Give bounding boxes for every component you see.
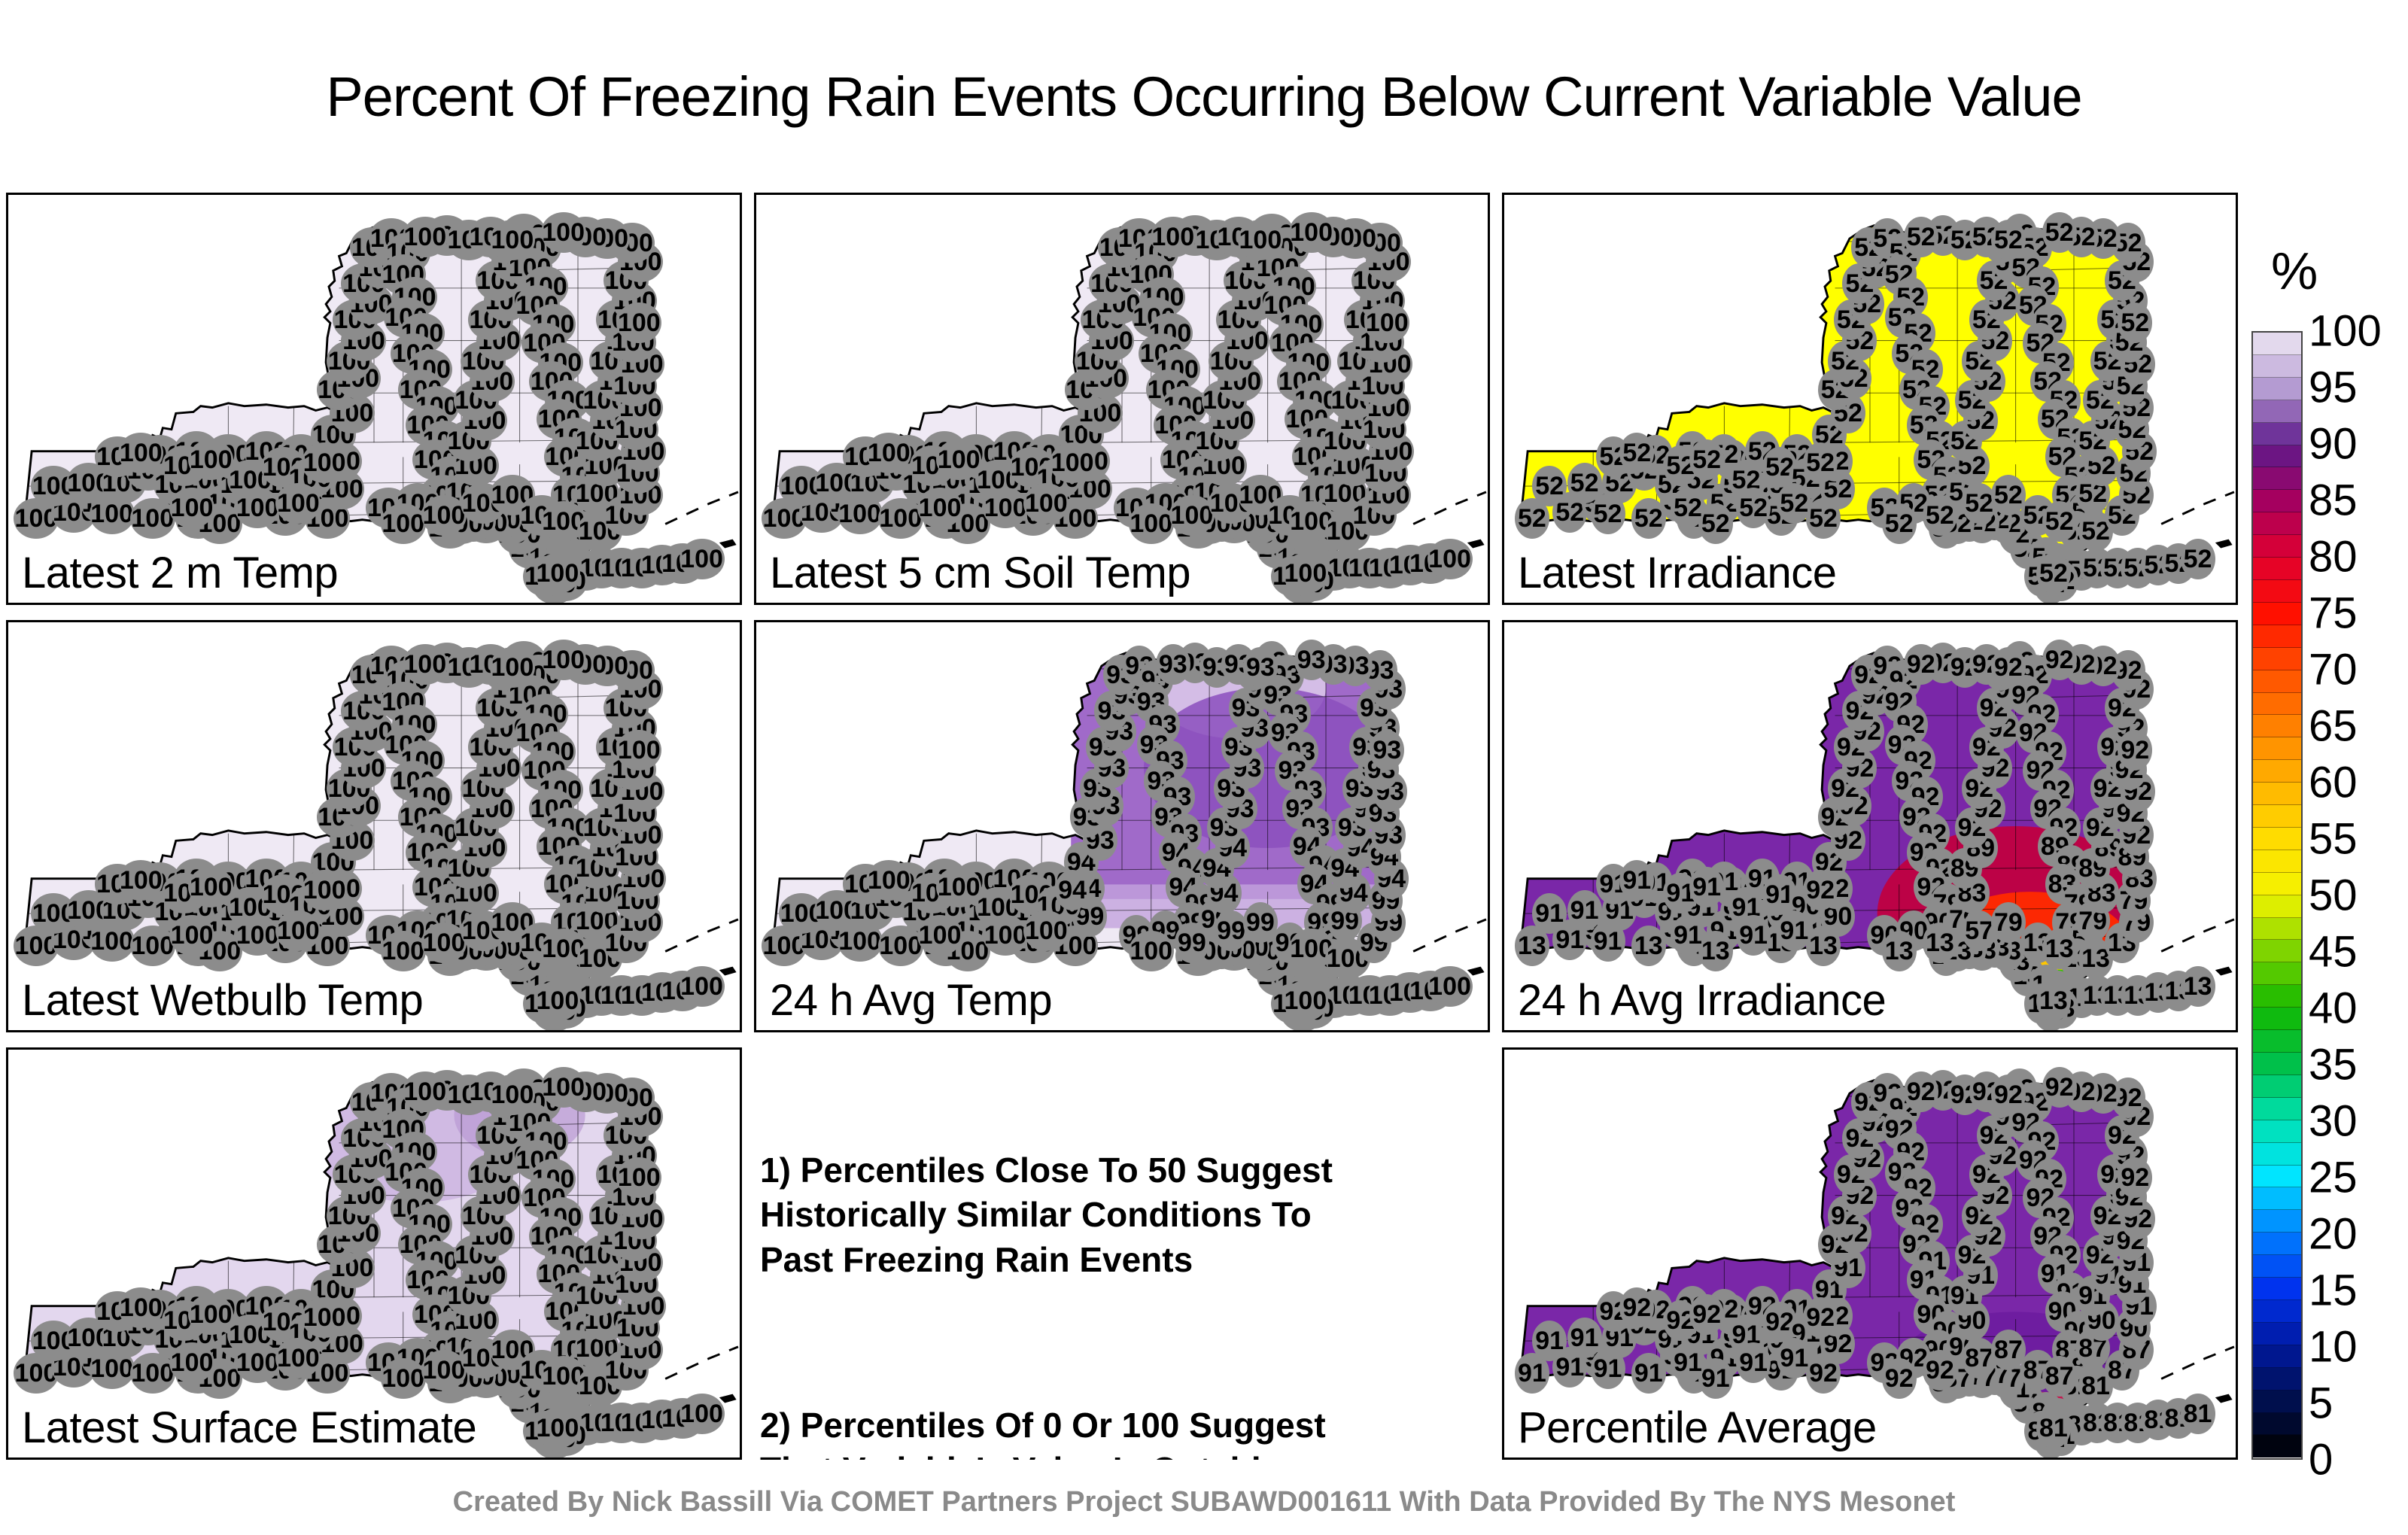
station-marker: 52 (1777, 483, 1811, 524)
note-1: 1) Percentiles Close To 50 Suggest Histo… (760, 1148, 1482, 1283)
station-marker: 91 (1777, 1338, 1811, 1378)
station-marker: 52 (1803, 442, 1838, 483)
colorbar-tick-25: 25 (2309, 1153, 2408, 1203)
station-marker: 87 (2042, 1356, 2077, 1397)
colorbar-tick-5: 5 (2309, 1378, 2408, 1429)
station-marker: 52 (1689, 439, 1724, 480)
station-marker: 100 (302, 1297, 347, 1338)
station-marker: 93 (1243, 647, 1278, 688)
station-marker: 100 (983, 915, 1028, 956)
station-marker: 100 (118, 860, 163, 901)
station-marker: 100 (936, 867, 981, 907)
station-marker: 100 (878, 498, 923, 539)
station-marker: 100 (118, 1287, 163, 1328)
station-marker: 92 (1991, 647, 2026, 688)
station-marker: 100 (381, 1358, 426, 1399)
station-marker: 100 (1427, 539, 1473, 579)
map-latest-surface-estimate: 1001001001001001001001001001001001001001… (8, 1050, 740, 1457)
station-marker: 100 (130, 926, 175, 966)
station-marker: 52 (1736, 488, 1771, 528)
station-marker: 100 (541, 1067, 586, 1108)
colorbar-tick-70: 70 (2309, 645, 2408, 695)
station-marker: 100 (866, 433, 911, 473)
station-marker: 93 (1370, 730, 1404, 771)
station-marker: 100 (490, 647, 535, 688)
colorbar-tick-35: 35 (2309, 1040, 2408, 1090)
station-marker: 100 (1283, 553, 1328, 594)
panel-24h-avg-irradiance[interactable]: 1391919191919191919113919191139191919113… (1502, 620, 2238, 1032)
station-marker: 91 (1736, 1342, 1771, 1383)
station-marker: 92 (1689, 1294, 1724, 1335)
station-marker: 81 (2036, 1408, 2071, 1448)
station-marker: 92 (1619, 1287, 1654, 1328)
station-marker: 100 (403, 644, 448, 685)
station-marker: 100 (1283, 980, 1328, 1021)
panel-percentile-average[interactable]: 9191919191919292929191919191919192929191… (1502, 1047, 2238, 1460)
map-24h-avg-irradiance: 1391919191919191919113919191139191919113… (1504, 622, 2236, 1030)
station-marker: 81 (2181, 1394, 2215, 1434)
panel-label-24h-avg-irradiance: 24 h Avg Irradiance (1518, 975, 1886, 1026)
station-marker: 13 (1631, 926, 1666, 966)
station-marker: 100 (169, 1342, 214, 1383)
station-marker: 92 (1991, 1074, 2026, 1115)
panel-notes: 1) Percentiles Close To 50 Suggest Histo… (754, 1047, 1490, 1460)
station-marker: 52 (1619, 433, 1654, 473)
colorbar-unit-label: % (2271, 241, 2318, 301)
station-marker: 91 (1619, 860, 1654, 901)
station-marker: 91 (1591, 921, 1625, 962)
colorbar-tick-60: 60 (2309, 758, 2408, 808)
panel-label-latest-surface-estimate: Latest Surface Estimate (22, 1403, 476, 1453)
panel-latest-surface-estimate[interactable]: 1001001001001001001001001001001001001001… (6, 1047, 742, 1460)
colorbar-tick-90: 90 (2309, 419, 2408, 470)
station-marker: 91 (1591, 1348, 1625, 1389)
panel-latest-wetbulb-temp[interactable]: 1001001001001001001001001001001001001001… (6, 620, 742, 1032)
station-marker: 100 (302, 870, 347, 910)
station-marker: 100 (118, 433, 163, 473)
station-marker: 91 (1532, 893, 1567, 934)
station-marker: 91 (1671, 1342, 1705, 1383)
station-marker: 100 (1238, 220, 1283, 260)
station-marker: 100 (1129, 931, 1174, 971)
colorbar-tick-40: 40 (2309, 983, 2408, 1034)
colorbar-tick-55: 55 (2309, 814, 2408, 865)
colorbar-tick-30: 30 (2309, 1096, 2408, 1147)
station-marker: 100 (235, 488, 280, 528)
station-marker: 100 (680, 539, 725, 579)
station-marker: 100 (936, 439, 981, 480)
station-marker: 100 (90, 1348, 135, 1389)
station-marker: 100 (1050, 442, 1095, 483)
station-marker: 93 (1156, 644, 1190, 685)
station-marker: 91 (1532, 1321, 1567, 1361)
station-marker: 100 (535, 553, 580, 594)
notes-block: 1) Percentiles Close To 50 Suggest Histo… (760, 1058, 1482, 1460)
colorbar-gradient (2251, 331, 2303, 1460)
station-marker: 100 (235, 1342, 280, 1383)
colorbar-tick-85: 85 (2309, 476, 2408, 526)
colorbar-tick-10: 10 (2309, 1322, 2408, 1372)
station-marker: 100 (680, 966, 725, 1007)
station-marker: 100 (403, 1071, 448, 1112)
station-marker: 99 (1175, 923, 1209, 963)
map-percentile-average: 9191919191919292929191919191919192929191… (1504, 1050, 2236, 1457)
station-marker: 91 (1777, 910, 1811, 951)
station-marker: 100 (917, 915, 962, 956)
station-marker: 100 (983, 488, 1028, 528)
station-marker: 100 (1364, 302, 1409, 343)
station-marker: 100 (421, 1350, 467, 1391)
station-marker: 100 (275, 1338, 321, 1378)
station-marker: 92 (1904, 1071, 1938, 1112)
station-marker: 100 (302, 442, 347, 483)
station-marker: 92 (2118, 1157, 2152, 1198)
map-latest-wetbulb-temp: 1001001001001001001001001001001001001001… (8, 622, 740, 1030)
station-marker: 13 (1923, 923, 1957, 963)
panel-24h-avg-temp[interactable]: 1001001001001001001001001001001001001001… (754, 620, 1490, 1032)
station-marker: 100 (90, 921, 135, 962)
station-marker: 100 (866, 860, 911, 901)
station-marker: 93 (1294, 640, 1329, 680)
station-marker: 92 (1904, 644, 1938, 685)
station-marker: 100 (680, 1394, 725, 1434)
station-marker: 100 (169, 915, 214, 956)
station-marker: 100 (90, 494, 135, 534)
station-marker: 100 (188, 1294, 233, 1335)
map-latest-5cm-soil-temp: 1001001001001001001001001001001001001001… (756, 195, 1488, 603)
station-marker: 92 (1923, 1350, 1957, 1391)
panel-label-latest-irradiance: Latest Irradiance (1518, 548, 1837, 598)
station-marker: 52 (2118, 302, 2152, 343)
station-marker: 52 (2181, 539, 2215, 579)
station-marker: 100 (421, 495, 467, 536)
station-marker: 100 (235, 915, 280, 956)
panel-latest-irradiance[interactable]: 5252525252525252525252525252525252525252… (1502, 193, 2238, 605)
figure-credit: Created By Nick Bassill Via COMET Partne… (0, 1486, 2408, 1518)
station-marker: 100 (490, 1074, 535, 1115)
station-marker: 52 (2042, 501, 2077, 542)
station-marker: 100 (130, 498, 175, 539)
colorbar-tick-45: 45 (2309, 927, 2408, 977)
station-marker: 91 (1689, 867, 1724, 907)
station-marker: 52 (1631, 498, 1666, 539)
colorbar-tick-20: 20 (2309, 1209, 2408, 1260)
map-latest-2m-temp: 1001001001001001001001001001001001001001… (8, 195, 740, 603)
station-marker: 100 (275, 483, 321, 524)
station-marker: 100 (541, 212, 586, 253)
station-marker: 100 (188, 867, 233, 907)
station-marker: 92 (2042, 640, 2077, 680)
station-marker: 100 (490, 220, 535, 260)
station-marker: 92 (2118, 730, 2152, 771)
station-marker: 100 (616, 302, 661, 343)
station-marker: 100 (917, 488, 962, 528)
station-marker: 52 (1532, 466, 1567, 506)
station-marker: 100 (169, 488, 214, 528)
station-marker: 52 (1882, 503, 1917, 544)
colorbar-tick-80: 80 (2309, 532, 2408, 582)
station-marker: 100 (1289, 212, 1334, 253)
station-marker: 100 (1023, 483, 1069, 524)
station-marker: 91 (1736, 915, 1771, 956)
panel-latest-2m-temp[interactable]: 1001001001001001001001001001001001001001… (6, 193, 742, 605)
station-marker: 52 (1991, 220, 2026, 260)
station-marker: 91 (1631, 1353, 1666, 1394)
station-marker: 100 (275, 910, 321, 951)
station-marker: 100 (878, 926, 923, 966)
station-marker: 13 (2042, 929, 2077, 969)
station-marker: 100 (381, 931, 426, 971)
station-marker: 100 (1129, 503, 1174, 544)
station-marker: 100 (1169, 495, 1215, 536)
station-marker: 100 (535, 980, 580, 1021)
station-marker: 91 (1671, 915, 1705, 956)
station-marker: 100 (421, 923, 467, 963)
station-marker: 52 (1591, 494, 1625, 534)
station-marker: 100 (188, 439, 233, 480)
station-marker: 52 (2042, 212, 2077, 253)
station-marker: 100 (616, 730, 661, 771)
figure-title: Percent Of Freezing Rain Events Occurrin… (0, 65, 2408, 129)
station-marker: 100 (1151, 217, 1196, 257)
station-marker: 100 (838, 494, 883, 534)
station-marker: 92 (1803, 1297, 1838, 1338)
colorbar-tick-50: 50 (2309, 871, 2408, 921)
station-marker: 100 (381, 503, 426, 544)
panel-label-percentile-average: Percentile Average (1518, 1403, 1877, 1453)
station-marker: 100 (535, 1408, 580, 1448)
station-marker: 100 (403, 217, 448, 257)
panel-label-latest-wetbulb-temp: Latest Wetbulb Temp (22, 975, 423, 1026)
panel-label-latest-5cm-soil-temp: Latest 5 cm Soil Temp (770, 548, 1190, 598)
station-marker: 52 (1923, 495, 1957, 536)
colorbar-tick-15: 15 (2309, 1266, 2408, 1316)
station-marker: 92 (1882, 1358, 1917, 1399)
station-marker: 94 (1055, 870, 1090, 910)
colorbar-tick-0: 0 (2309, 1435, 2408, 1485)
station-marker: 100 (1427, 966, 1473, 1007)
station-marker: 13 (2036, 980, 2071, 1021)
map-latest-irradiance: 5252525252525252525252525252525252525252… (1504, 195, 2236, 603)
station-marker: 100 (838, 921, 883, 962)
station-marker: 13 (2181, 966, 2215, 1007)
station-marker: 52 (1671, 488, 1705, 528)
map-24h-avg-temp: 1001001001001001001001001001001001001001… (756, 622, 1488, 1030)
colorbar-tick-100: 100 (2309, 306, 2408, 357)
note-2: 2) Percentiles Of 0 Or 100 Suggest That … (760, 1403, 1482, 1460)
panel-label-24h-avg-temp: 24 h Avg Temp (770, 975, 1052, 1026)
colorbar-tick-95: 95 (2309, 363, 2408, 413)
station-marker: 100 (541, 640, 586, 680)
panel-label-latest-2m-temp: Latest 2 m Temp (22, 548, 338, 598)
station-marker: 100 (130, 1353, 175, 1394)
panel-latest-5cm-soil-temp[interactable]: 1001001001001001001001001001001001001001… (754, 193, 1490, 605)
station-marker: 100 (1023, 910, 1069, 951)
station-marker: 52 (1904, 217, 1938, 257)
station-marker: 52 (2036, 553, 2071, 594)
colorbar-tick-75: 75 (2309, 588, 2408, 639)
station-marker: 92 (1803, 870, 1838, 910)
station-marker: 100 (616, 1157, 661, 1198)
station-marker: 92 (2042, 1067, 2077, 1108)
colorbar-tick-65: 65 (2309, 701, 2408, 752)
station-marker: 13 (1882, 931, 1917, 971)
